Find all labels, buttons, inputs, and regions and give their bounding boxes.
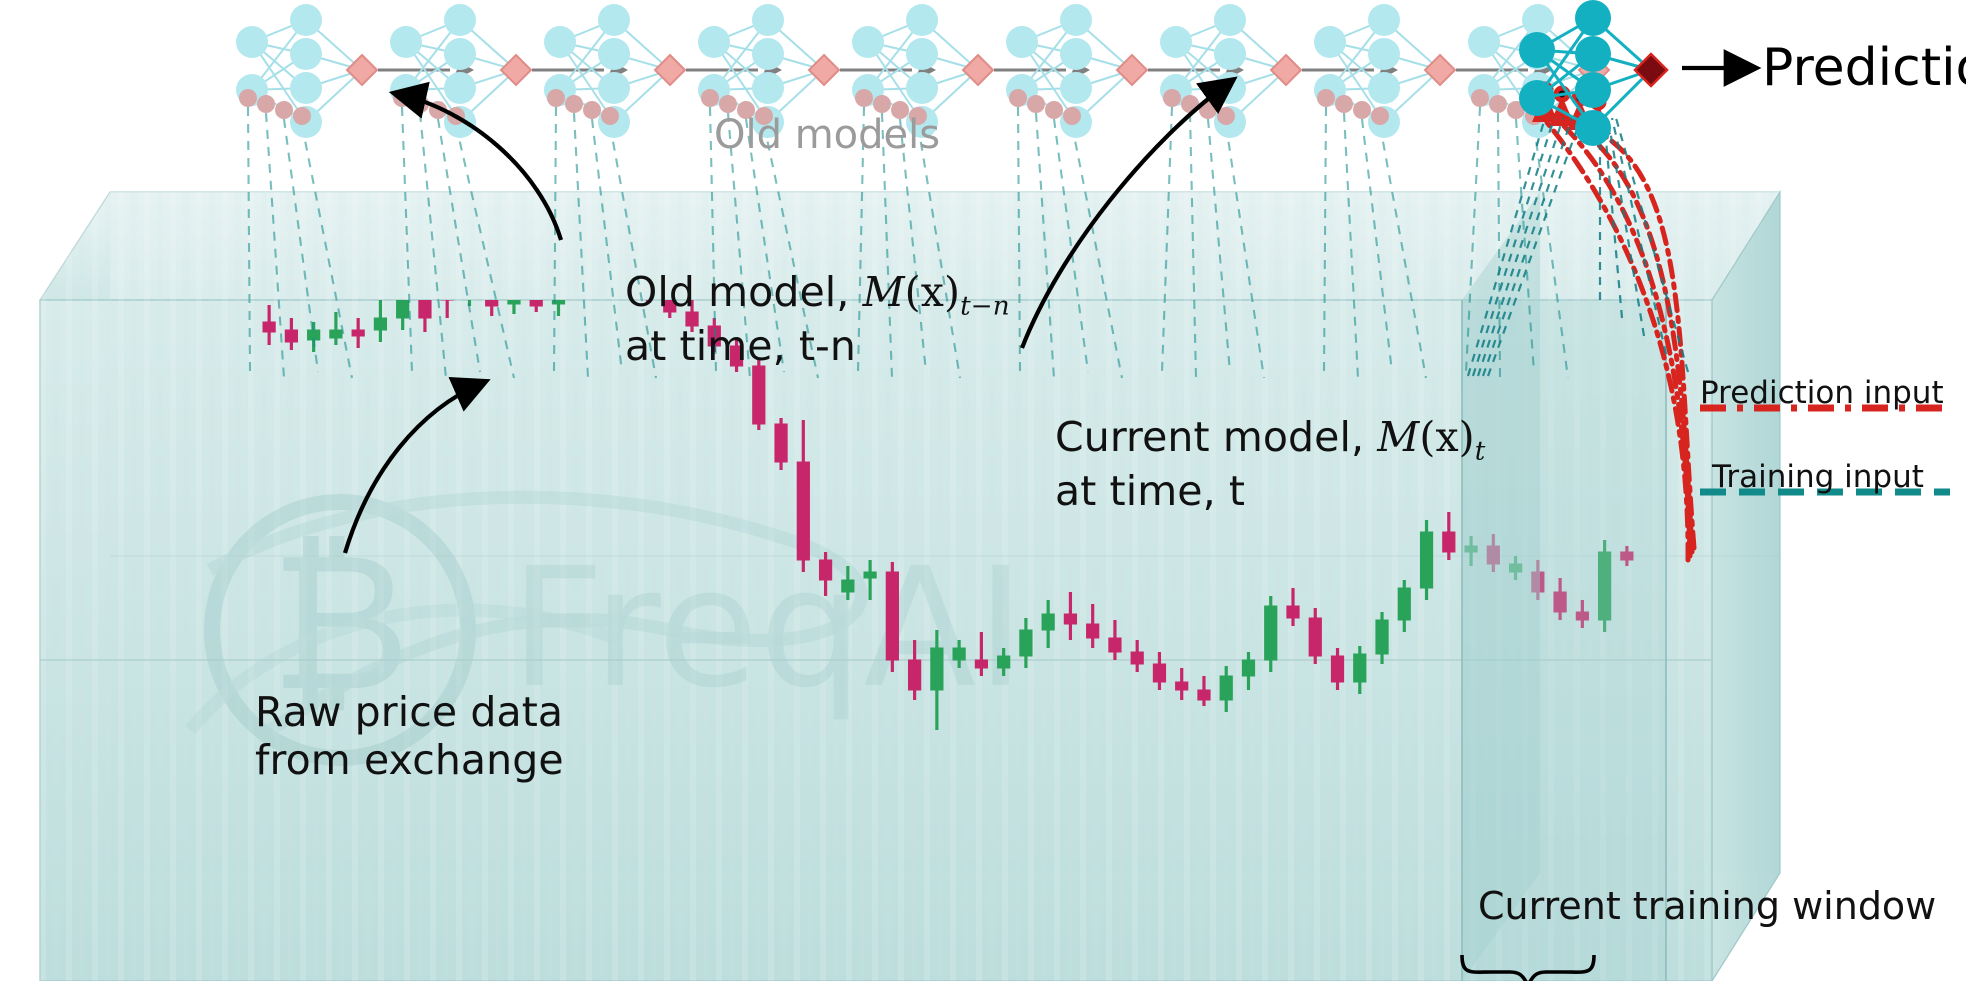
raw-price-annotation: Raw price data from exchange (255, 688, 564, 785)
current-model-annotation: Current model, M(x)t at time, t (1055, 413, 1485, 516)
old-model-text: Old model, (625, 268, 863, 316)
legend-layer (0, 0, 1966, 981)
current-training-window-label: Current training window (1478, 884, 1936, 928)
current-model-math-arg: (x) (1419, 413, 1474, 461)
current-model-text: Current model, (1055, 413, 1377, 461)
current-model-math-M: M (1377, 413, 1419, 461)
prediction-label: Prediction (1762, 38, 1966, 98)
old-model-annotation-line1: Old model, M(x)t−n (625, 268, 1010, 322)
current-model-annotation-line2: at time, t (1055, 467, 1485, 515)
old-model-math-subscript: t−n (960, 291, 1010, 321)
old-model-annotation-line2: at time, t-n (625, 322, 1010, 370)
current-model-annotation-line1: Current model, M(x)t (1055, 413, 1485, 467)
current-model-math-subscript: t (1475, 436, 1486, 466)
raw-price-line1: Raw price data (255, 688, 564, 736)
legend-label-training-input: Training input (1712, 459, 1924, 495)
legend-label-prediction-input: Prediction input (1700, 375, 1944, 411)
old-model-math-M: M (863, 268, 905, 316)
raw-price-line2: from exchange (255, 736, 564, 784)
old-models-label: Old models (714, 112, 940, 158)
old-model-math-arg: (x) (905, 268, 960, 316)
diagram-canvas: ₿ FreqAI (0, 0, 1966, 981)
old-model-annotation: Old model, M(x)t−n at time, t-n (625, 268, 1010, 371)
